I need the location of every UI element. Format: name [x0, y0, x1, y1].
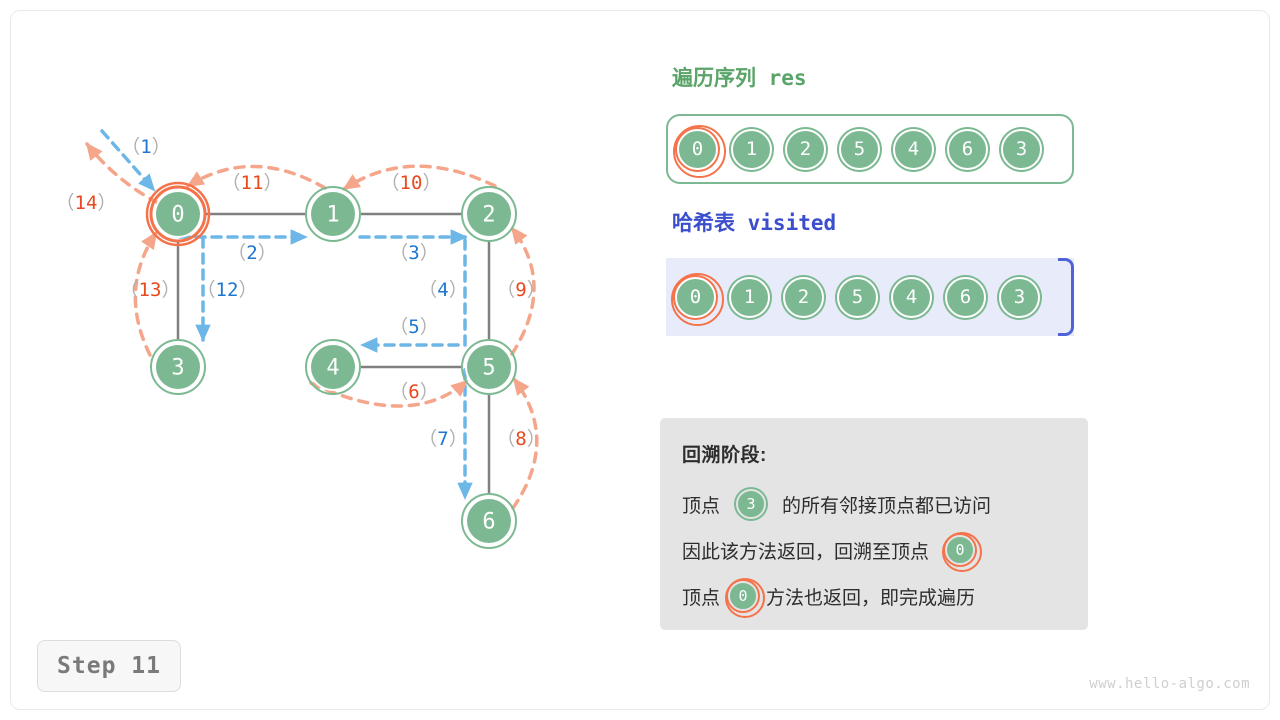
edge-step-label-7: （7）: [418, 428, 467, 450]
visited-chip-4: 4: [891, 277, 932, 318]
explanation-line-3: 顶点 0 方法也返回，即完成遍历: [682, 573, 1068, 619]
visited-title: 哈希表 visited: [672, 207, 836, 237]
edge-step-label-6: （6）: [389, 381, 438, 403]
visited-chip-1: 1: [729, 277, 770, 318]
res-chip-0: 0: [677, 129, 718, 170]
graph-node-6: 6: [462, 494, 516, 548]
edge-step-label-14: （14）: [56, 192, 117, 214]
graph-panel: 0123456 （1）（2）（3）（4）（5）（6）（7）（8）（9）（10）（…: [0, 0, 640, 660]
node-label-6: 6: [482, 510, 495, 535]
graph-node-0: 0: [147, 183, 209, 245]
explanation-line-3-text-a: 顶点: [682, 583, 720, 610]
graph-node-4: 4: [306, 340, 360, 394]
edge-step-label-9: （9）: [496, 279, 545, 301]
visited-chip-2: 2: [783, 277, 824, 318]
edge-step-label-11: （11）: [222, 172, 283, 194]
node-label-5: 5: [482, 356, 495, 381]
explanation-line-2: 因此该方法返回，回溯至顶点 0: [682, 527, 1068, 573]
explanation-line-1: 顶点 3 的所有邻接顶点都已访问: [682, 481, 1068, 527]
explanation-line-2-text-a: 因此该方法返回，回溯至顶点: [682, 537, 929, 564]
edge-step-label-1: （1）: [121, 136, 170, 158]
node-label-0: 0: [171, 203, 184, 228]
inline-chip-vertex-0-b: 0: [728, 581, 758, 611]
node-label-3: 3: [171, 356, 184, 381]
inline-chip-vertex-0-a: 0: [945, 535, 975, 565]
explanation-heading: 回溯阶段:: [682, 440, 1068, 467]
graph-node-3: 3: [151, 340, 205, 394]
edge-step-label-3: （3）: [389, 242, 438, 264]
edge-step-label-4: （4）: [418, 279, 467, 301]
edge-step-label-10: （10）: [381, 172, 442, 194]
node-label-4: 4: [326, 356, 339, 381]
res-chip-5: 6: [947, 129, 988, 170]
edge-step-label-13: （13）: [120, 279, 181, 301]
explanation-line-3-text-b: 方法也返回，即完成遍历: [766, 583, 975, 610]
visited-chip-0: 0: [675, 277, 716, 318]
edge-step-label-8: （8）: [496, 428, 545, 450]
visited-set: 0125463: [666, 258, 1074, 336]
visited-chip-3: 5: [837, 277, 878, 318]
graph-node-5: 5: [462, 340, 516, 394]
explanation-line-1-text-b: 的所有邻接顶点都已访问: [782, 491, 991, 518]
watermark: www.hello-algo.com: [1089, 676, 1250, 692]
node-label-2: 2: [482, 203, 495, 228]
visited-chip-6: 3: [999, 277, 1040, 318]
res-chip-3: 5: [839, 129, 880, 170]
res-chip-1: 1: [731, 129, 772, 170]
edge-step-label-2: （2）: [227, 242, 276, 264]
res-title: 遍历序列 res: [672, 62, 807, 92]
res-array: 0125463: [666, 114, 1074, 184]
explanation-box: 回溯阶段: 顶点 3 的所有邻接顶点都已访问 因此该方法返回，回溯至顶点 0 顶…: [660, 418, 1088, 630]
visited-chip-5: 6: [945, 277, 986, 318]
graph-node-1: 1: [306, 187, 360, 241]
slide-root: 0123456 （1）（2）（3）（4）（5）（6）（7）（8）（9）（10）（…: [0, 0, 1280, 720]
edge-step-label-12: （12）: [197, 279, 258, 301]
res-chip-4: 4: [893, 129, 934, 170]
edge-step-label-5: （5）: [389, 316, 438, 338]
res-chip-2: 2: [785, 129, 826, 170]
right-panel: 遍历序列 res 0125463 哈希表 visited 0125463 回溯阶…: [660, 0, 1280, 720]
graph-svg: 0123456 （1）（2）（3）（4）（5）（6）（7）（8）（9）（10）（…: [0, 0, 640, 660]
visited-bracket-right: [1058, 258, 1074, 336]
graph-node-2: 2: [462, 187, 516, 241]
step-badge: Step 11: [37, 640, 181, 692]
inline-chip-vertex-3: 3: [736, 489, 766, 519]
node-label-1: 1: [326, 203, 339, 228]
res-chip-6: 3: [1001, 129, 1042, 170]
explanation-line-1-text-a: 顶点: [682, 491, 720, 518]
